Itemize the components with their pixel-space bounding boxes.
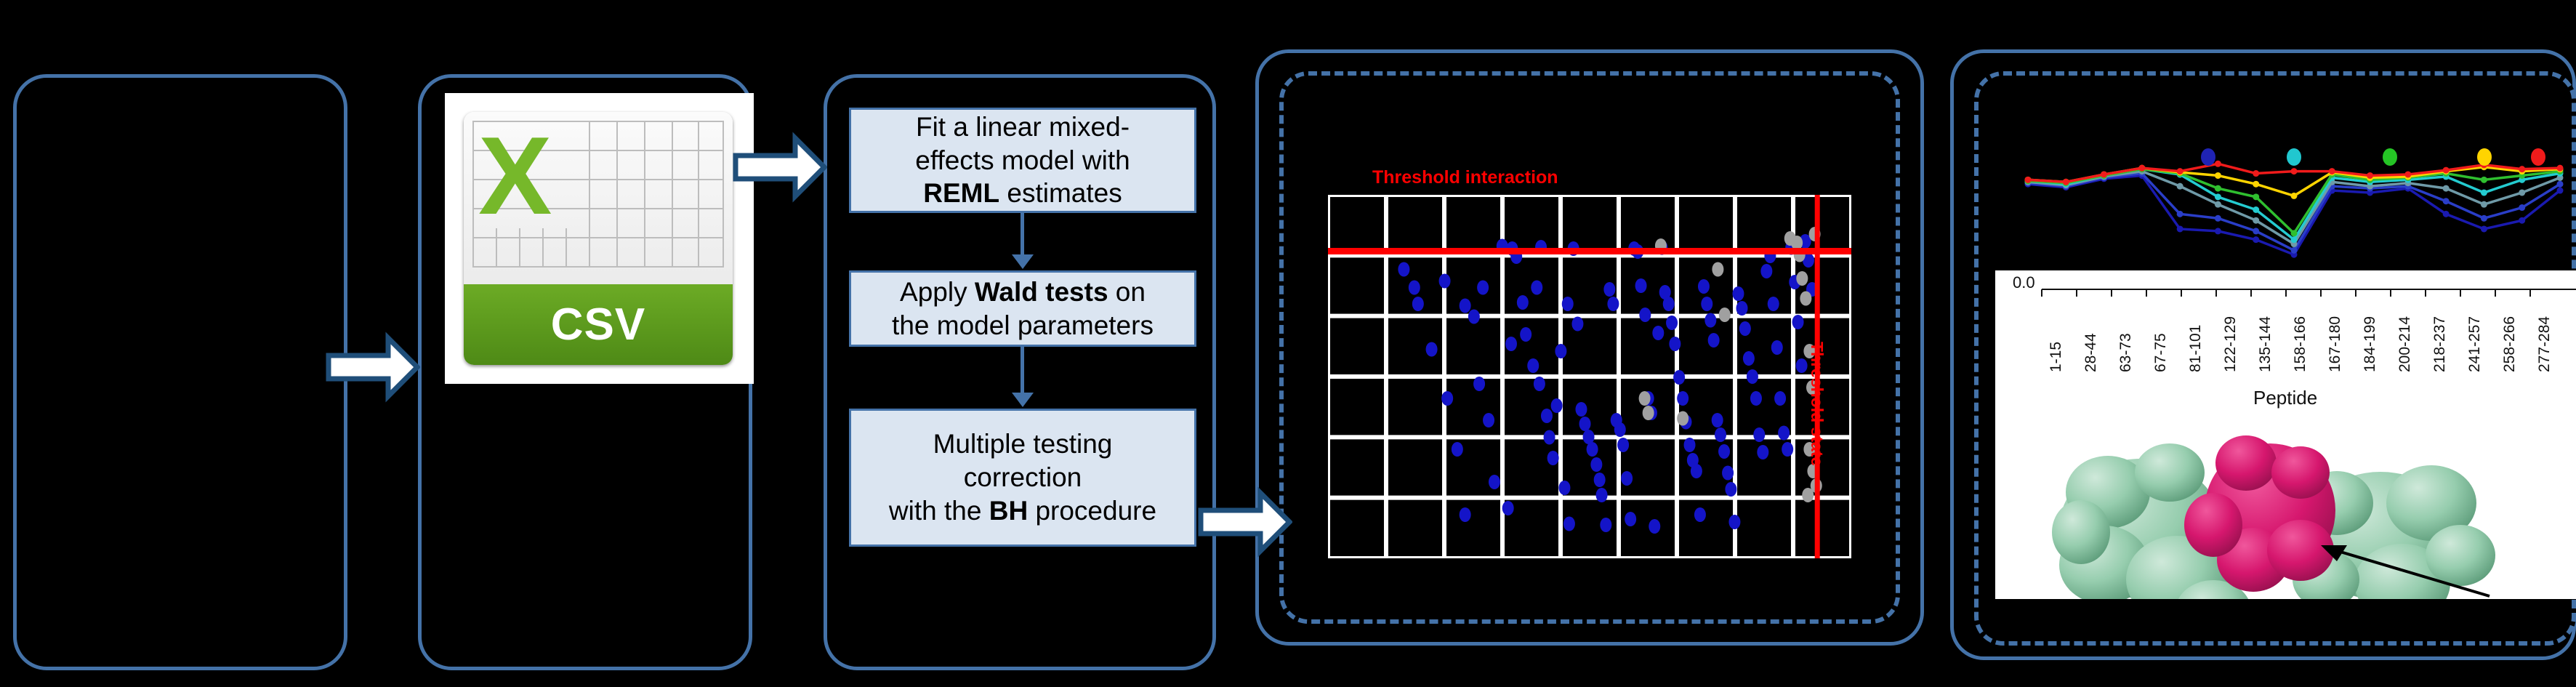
input-data-panel	[13, 74, 347, 670]
flow-arrow-1	[326, 331, 420, 403]
peptide-tick-label: 167-180	[2327, 316, 2344, 372]
peptide-tick-label: 258-266	[2501, 316, 2519, 372]
csv-label-band: CSV	[464, 284, 733, 365]
connector-arrowhead-2	[1012, 393, 1034, 407]
step-bh-line3-post: procedure	[1028, 496, 1156, 526]
peptide-tick-label: 135-144	[2257, 316, 2274, 372]
legend-dot-2	[2287, 148, 2301, 166]
step-wald-line1-pre: Apply	[900, 277, 975, 307]
step-reml-box: Fit a linear mixed- effects model with R…	[849, 108, 1196, 213]
protein-structure-image	[1995, 416, 2576, 599]
peptide-tick-label: 67-75	[2152, 333, 2170, 372]
chart-legend	[2006, 142, 2573, 171]
peptide-tick-label: 200-214	[2396, 316, 2414, 372]
legend-dot-5	[2531, 148, 2545, 166]
peptide-tick-label: 81-101	[2187, 325, 2205, 372]
threshold-state-label: Threshold state	[1807, 342, 1827, 466]
legend-dot-4	[2477, 148, 2492, 166]
peptide-axis-title: Peptide	[2253, 387, 2317, 409]
step-wald-line1-post: on	[1108, 277, 1146, 307]
peptide-tick-label: 1-15	[2048, 342, 2065, 372]
flow-arrow-3	[1198, 486, 1292, 558]
connector-arrowhead-1	[1012, 254, 1034, 269]
peptide-tick-label: 218-237	[2431, 316, 2449, 372]
peptide-tick-label: 28-44	[2082, 333, 2100, 372]
csv-icon-background: X CSV	[445, 93, 754, 384]
peptide-tick-label: 122-129	[2222, 316, 2239, 372]
flow-arrow-2	[733, 131, 827, 204]
step-bh-line3-pre: with the	[889, 496, 989, 526]
step-wald-bold: Wald tests	[975, 277, 1108, 307]
binding-interface-annotation: Binding interface	[2472, 596, 2545, 599]
peptide-axis	[1995, 286, 2576, 308]
peptide-tick-label: 241-257	[2466, 316, 2484, 372]
excel-x-glyph: X	[478, 121, 552, 231]
threshold-interaction-label: Threshold interaction	[1372, 167, 1558, 188]
legend-dot-3	[2383, 148, 2397, 166]
peptide-tick-label: 184-199	[2362, 316, 2379, 372]
step-bh-line1: Multiple testing	[933, 429, 1113, 459]
step-wald-line2: the model parameters	[892, 310, 1154, 340]
peptide-tick-label: 158-166	[2292, 316, 2309, 372]
csv-label: CSV	[551, 299, 645, 350]
peptide-tick-label: 63-73	[2117, 333, 2135, 372]
step-reml-line3-post: estimates	[999, 178, 1122, 208]
peptide-tick-label: 277-284	[2536, 316, 2553, 372]
results-structure-card: 0.0 1-1528-4463-7367-7581-101122-129135-…	[1995, 270, 2576, 599]
legend-dot-1	[2201, 148, 2215, 166]
step-bh-box: Multiple testing correction with the BH …	[849, 409, 1196, 547]
csv-file-icon: X CSV	[464, 112, 733, 365]
binding-interface-line1: Binding	[2472, 596, 2545, 599]
volcano-scatter-plot	[1328, 195, 1851, 558]
connector-reml-wald	[1021, 213, 1024, 257]
step-reml-bold: REML	[923, 178, 999, 208]
step-wald-box: Apply Wald tests on the model parameters	[849, 270, 1196, 347]
step-bh-line2: correction	[964, 462, 1082, 492]
step-reml-line2: effects model with	[915, 145, 1130, 175]
connector-wald-bh	[1021, 347, 1024, 395]
step-reml-line1: Fit a linear mixed-	[916, 112, 1130, 142]
step-bh-bold: BH	[989, 496, 1028, 526]
